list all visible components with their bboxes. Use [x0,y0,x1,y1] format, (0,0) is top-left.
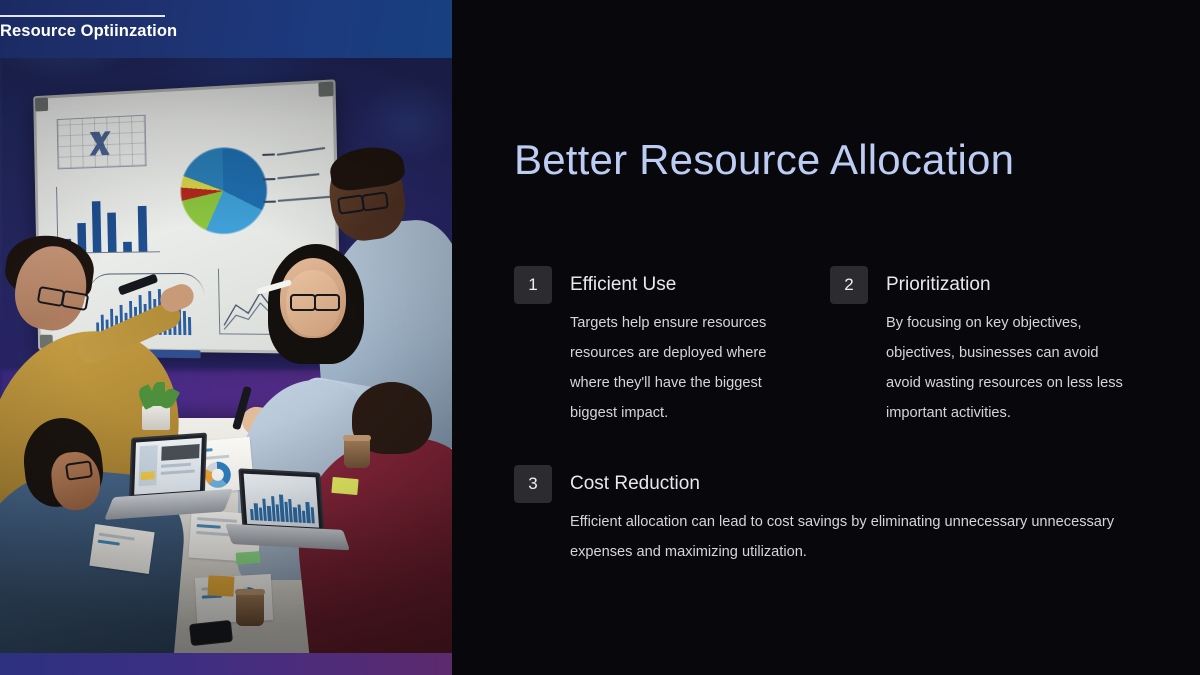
whiteboard-line-graph-box [57,115,147,170]
report-paper [89,524,154,574]
list-item-header: 2 Prioritization [830,266,1130,304]
list-item: 3 Cost Reduction Efficient allocation ca… [514,465,1134,567]
coffee-cup [344,438,370,468]
image-header-title: Resource Optiinzation [0,22,177,41]
header-rule [0,15,165,17]
item-body: By focusing on key objectives, objective… [886,308,1136,428]
laptop-screen-content [244,474,319,528]
glasses-icon [65,460,93,480]
handwriting-line [278,196,333,202]
handwriting-line [277,147,325,155]
image-bottom-accent-bar [0,653,452,675]
list-item-header: 3 Cost Reduction [514,465,1134,503]
meeting-photo [0,0,452,675]
item-title: Prioritization [886,266,991,304]
laptop-chart [249,492,315,523]
whiteboard-pie-chart [180,146,269,235]
item-number-badge: 2 [830,266,868,304]
image-header-band: Resource Optiinzation [0,0,452,58]
coffee-cup [236,592,264,626]
list-item: 2 Prioritization By focusing on key obje… [830,266,1130,428]
glasses-icon [290,294,316,311]
item-title: Efficient Use [570,266,676,304]
sticky-note [236,551,261,565]
laptop-screen [238,468,324,533]
item-title: Cost Reduction [570,465,700,503]
graph-line [62,130,142,157]
whiteboard-corner [35,97,48,111]
list-item-header: 1 Efficient Use [514,266,814,304]
handwriting-dash [263,201,275,203]
glasses-icon [361,191,389,211]
handwriting-line [277,173,319,179]
item-body: Targets help ensure resources resources … [570,308,810,428]
image-panel: Resource Optiinzation [0,0,452,675]
list-item: 1 Efficient Use Targets help ensure reso… [514,266,814,428]
item-body: Efficient allocation can lead to cost sa… [570,507,1130,567]
item-number-badge: 3 [514,465,552,503]
whiteboard-corner [318,82,333,97]
page-title: Better Resource Allocation [514,136,1014,184]
handwriting-dash [263,178,275,180]
laptop-screen [129,433,207,501]
laptop-screen-content [134,438,202,495]
glasses-icon [314,294,340,311]
handwriting-dash [262,153,274,155]
plant-pot [142,406,170,430]
item-number-badge: 1 [514,266,552,304]
sticky-note [331,477,358,495]
slide-root: Resource Optiinzation Better Resource Al… [0,0,1200,675]
content-panel: Better Resource Allocation 1 Efficient U… [452,0,1200,675]
sticky-note [207,575,234,596]
smartphone [189,620,233,646]
